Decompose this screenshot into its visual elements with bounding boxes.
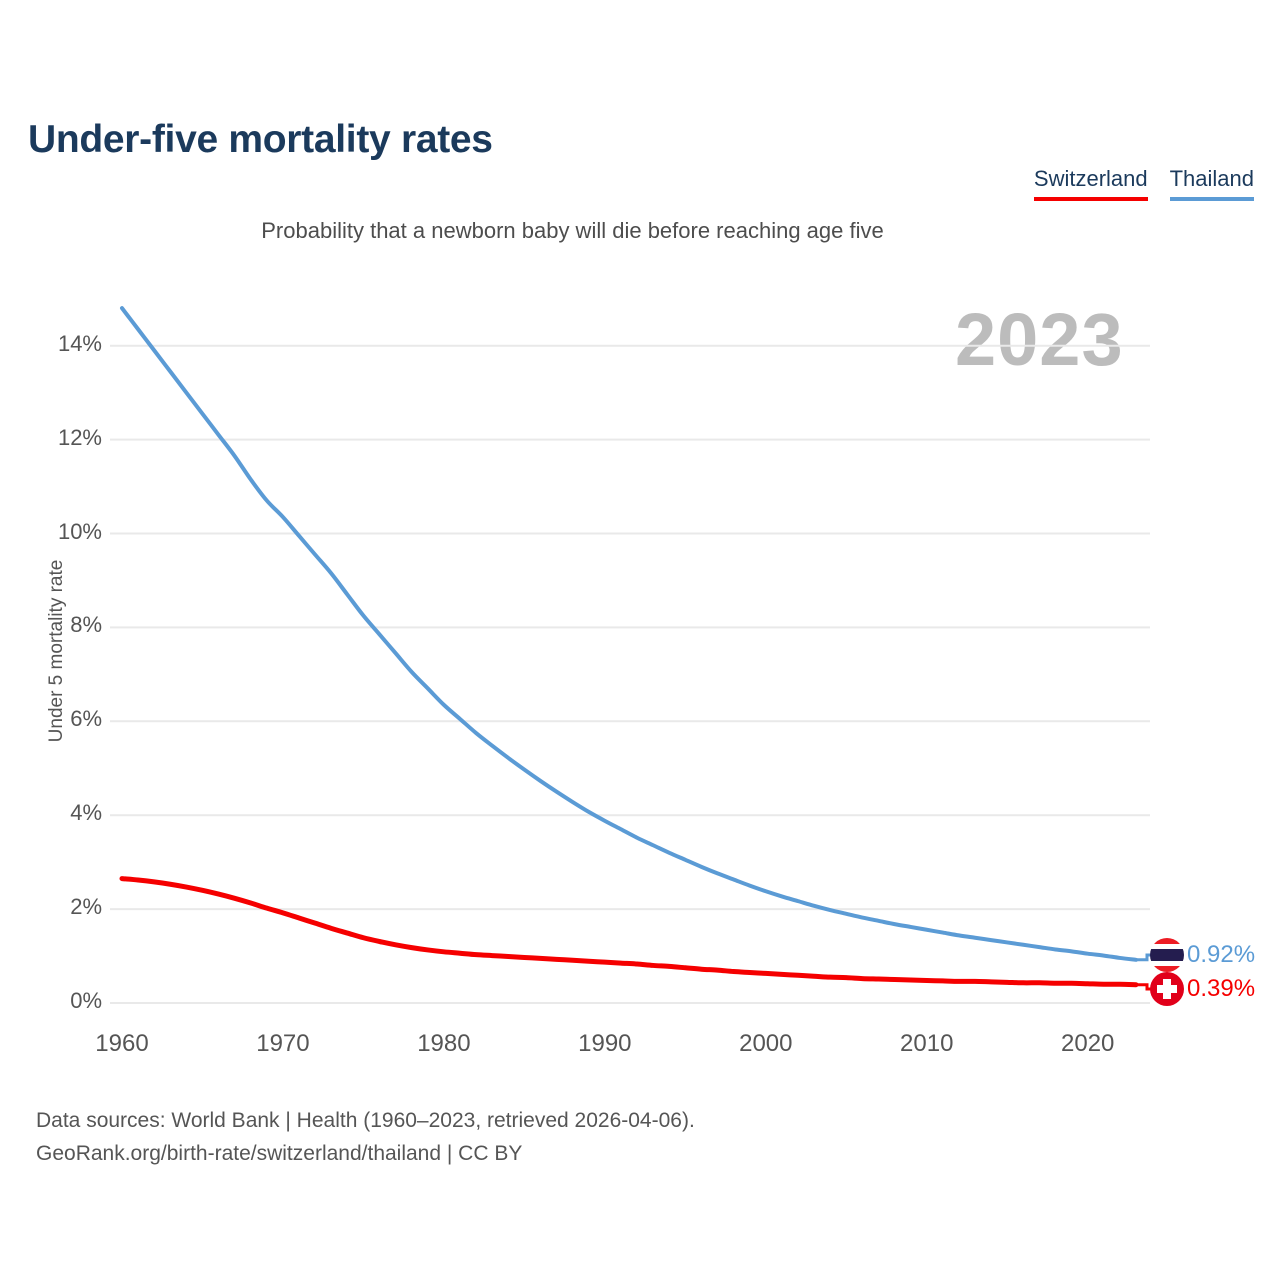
switzerland-flag-icon [1150, 972, 1184, 1006]
x-tick-label: 2000 [706, 1030, 826, 1058]
footer-line-url: GeoRank.org/birth-rate/switzerland/thail… [36, 1138, 695, 1171]
x-tick-label: 2010 [867, 1030, 987, 1058]
end-value-switzerland: 0.39% [1187, 975, 1255, 1002]
end-label-switzerland: 0.39% [1150, 972, 1255, 1006]
series-line-switzerland [122, 879, 1136, 985]
end-label-thailand: 0.92% [1150, 938, 1255, 972]
x-tick-label: 1970 [223, 1030, 343, 1058]
x-tick-label: 1990 [545, 1030, 665, 1058]
y-tick-label: 6% [22, 706, 102, 732]
series-lines [122, 308, 1136, 985]
footer: Data sources: World Bank | Health (1960–… [36, 1105, 695, 1170]
y-tick-label: 0% [22, 988, 102, 1014]
x-tick-label: 1980 [384, 1030, 504, 1058]
thailand-flag-icon [1150, 938, 1184, 972]
x-tick-label: 1960 [62, 1030, 182, 1058]
y-tick-label: 12% [22, 425, 102, 451]
gridlines [110, 346, 1150, 1003]
y-tick-label: 10% [22, 519, 102, 545]
y-tick-label: 4% [22, 800, 102, 826]
y-tick-label: 2% [22, 894, 102, 920]
chart-page: Under-five mortality rates Switzerland T… [0, 0, 1280, 1280]
series-line-thailand [122, 308, 1136, 960]
end-value-thailand: 0.92% [1187, 941, 1255, 968]
line-chart-plot [0, 0, 1280, 1280]
footer-line-sources: Data sources: World Bank | Health (1960–… [36, 1105, 695, 1138]
x-tick-label: 2020 [1028, 1030, 1148, 1058]
y-tick-label: 14% [22, 331, 102, 357]
y-tick-label: 8% [22, 612, 102, 638]
